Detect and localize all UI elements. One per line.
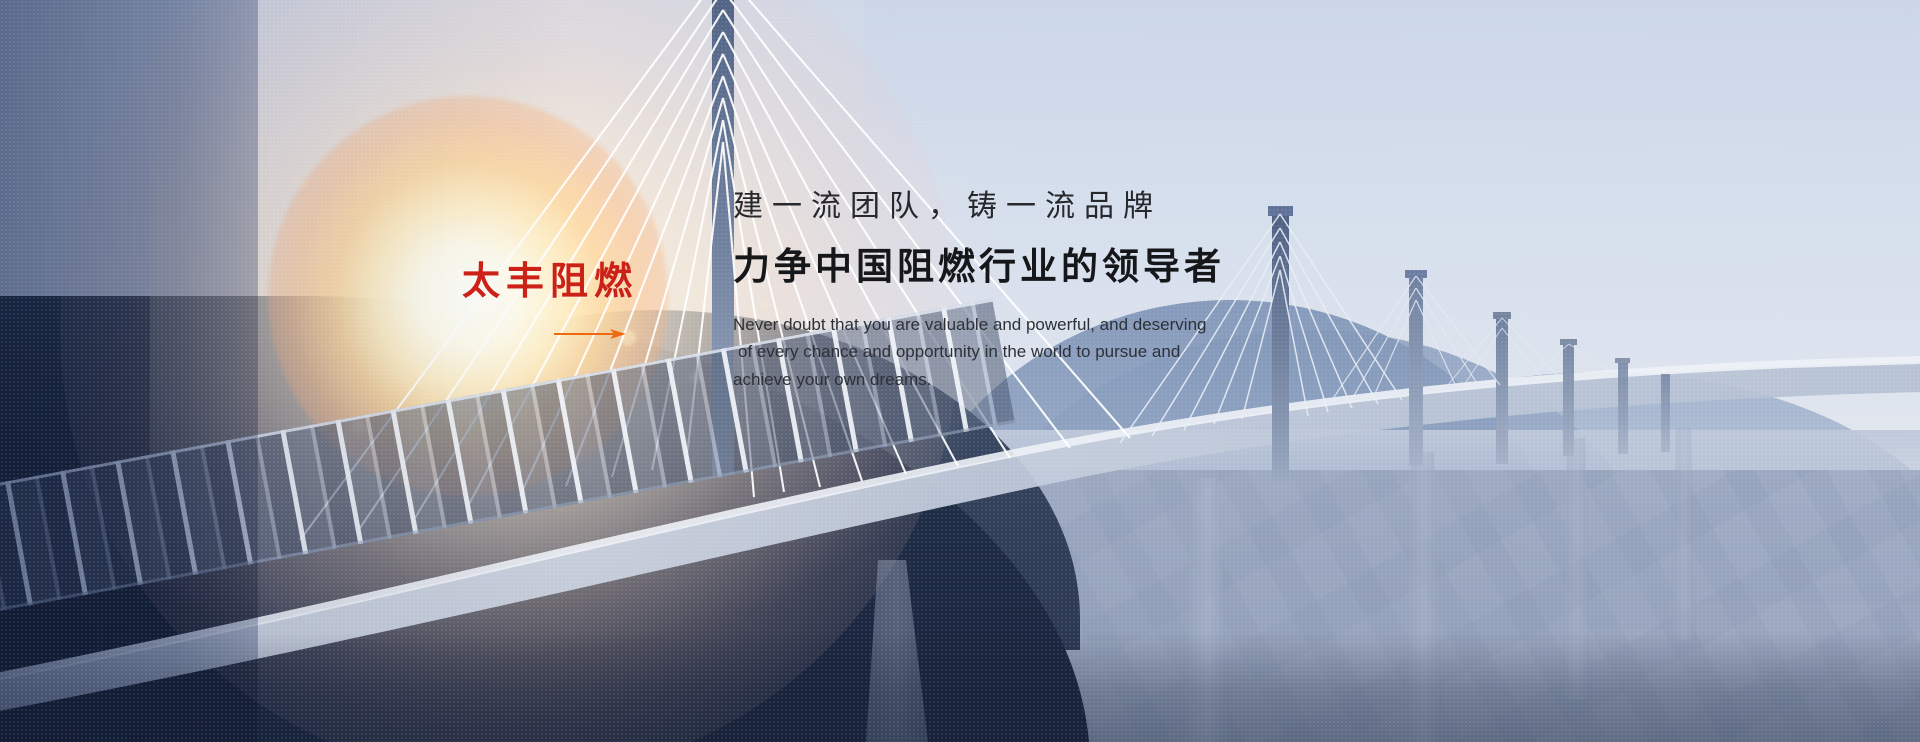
bottom-vignette	[0, 632, 1920, 742]
hero-english-paragraph: Never doubt that you are valuable and po…	[733, 311, 1333, 394]
hero-title: 力争中国阻燃行业的领导者	[733, 244, 1353, 289]
brand-logo[interactable]: 太丰阻燃	[462, 262, 662, 340]
hero-subhead: 建一流团队，铸一流品牌	[733, 188, 1353, 226]
hero-english-line-2: of every chance and opportunity in the w…	[733, 338, 1333, 366]
hero-banner: 太丰阻燃 建一流团队，铸一流品牌 力争中国阻燃行业的领导者 Never doub…	[0, 0, 1920, 742]
logo-wordmark: 太丰阻燃	[462, 262, 662, 300]
arrow-right-icon	[554, 328, 626, 340]
hero-english-line-3: achieve your own dreams.	[733, 366, 1333, 394]
hero-english-line-1: Never doubt that you are valuable and po…	[733, 311, 1333, 339]
hero-copy: 建一流团队，铸一流品牌 力争中国阻燃行业的领导者 Never doubt tha…	[733, 188, 1353, 393]
